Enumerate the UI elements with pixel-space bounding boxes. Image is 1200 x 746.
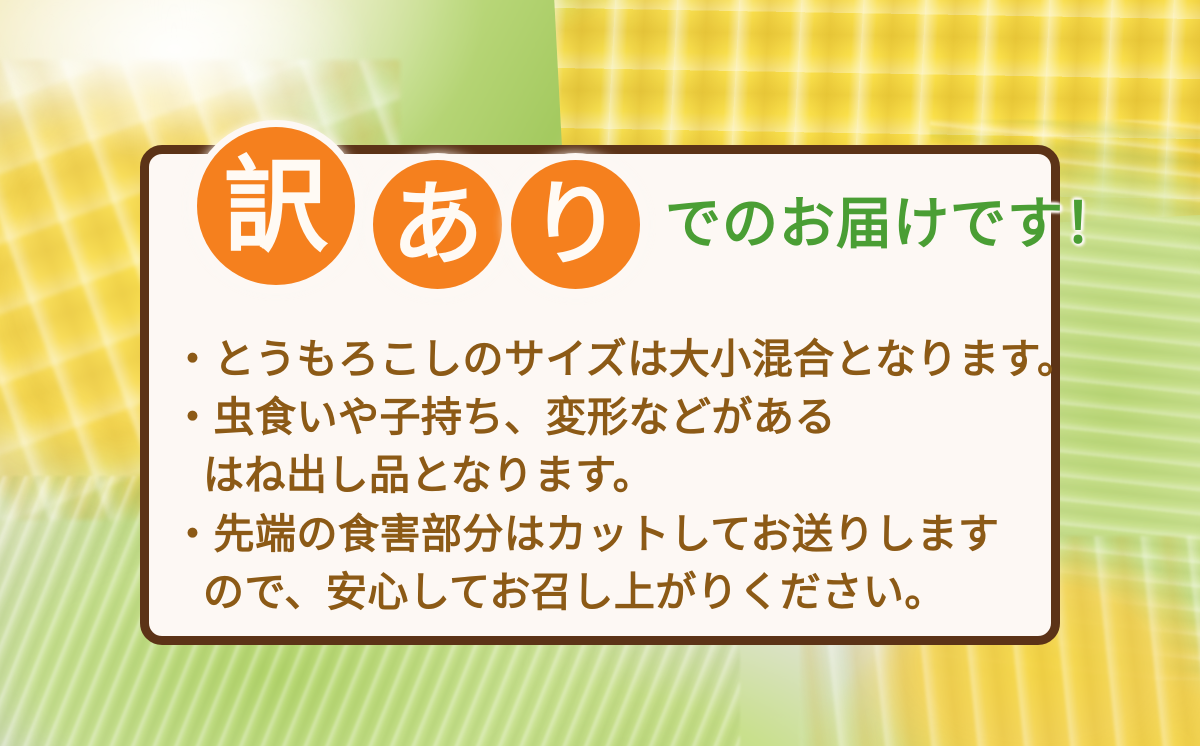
notes-line: ・虫食いや子持ち、変形などがある bbox=[172, 388, 1052, 446]
badge-circle-wake: 訳 bbox=[197, 127, 355, 285]
banner-canvas: 訳 あ り でのお届けです！ ・とうもろこしのサイズは大小混合となります。 ・虫… bbox=[0, 0, 1200, 746]
notes-line: はね出し品となります。 bbox=[172, 446, 1052, 504]
notes-line: ・先端の食害部分はカットしてお送りします bbox=[172, 505, 1052, 563]
badge-circle-a: あ bbox=[373, 160, 502, 289]
notes-line: ・とうもろこしのサイズは大小混合となります。 bbox=[172, 330, 1052, 388]
notes-line-text: ・先端の食害部分はカットしてお送りします bbox=[172, 510, 1000, 558]
notes-list: ・とうもろこしのサイズは大小混合となります。 ・虫食いや子持ち、変形などがある … bbox=[172, 330, 1052, 621]
badge-circle-ri: り bbox=[511, 160, 640, 289]
headline-suffix-text: でのお届けです！ bbox=[665, 196, 1121, 255]
notes-line: ので、安心してお召し上がりください。 bbox=[172, 563, 1052, 621]
notes-line-text: ・とうもろこしのサイズは大小混合となります。 bbox=[172, 335, 1078, 383]
notes-line-text: ので、安心してお召し上がりください。 bbox=[203, 568, 946, 616]
notes-line-text: はね出し品となります。 bbox=[203, 451, 654, 499]
notes-line-text: ・虫食いや子持ち、変形などがある bbox=[172, 393, 836, 441]
